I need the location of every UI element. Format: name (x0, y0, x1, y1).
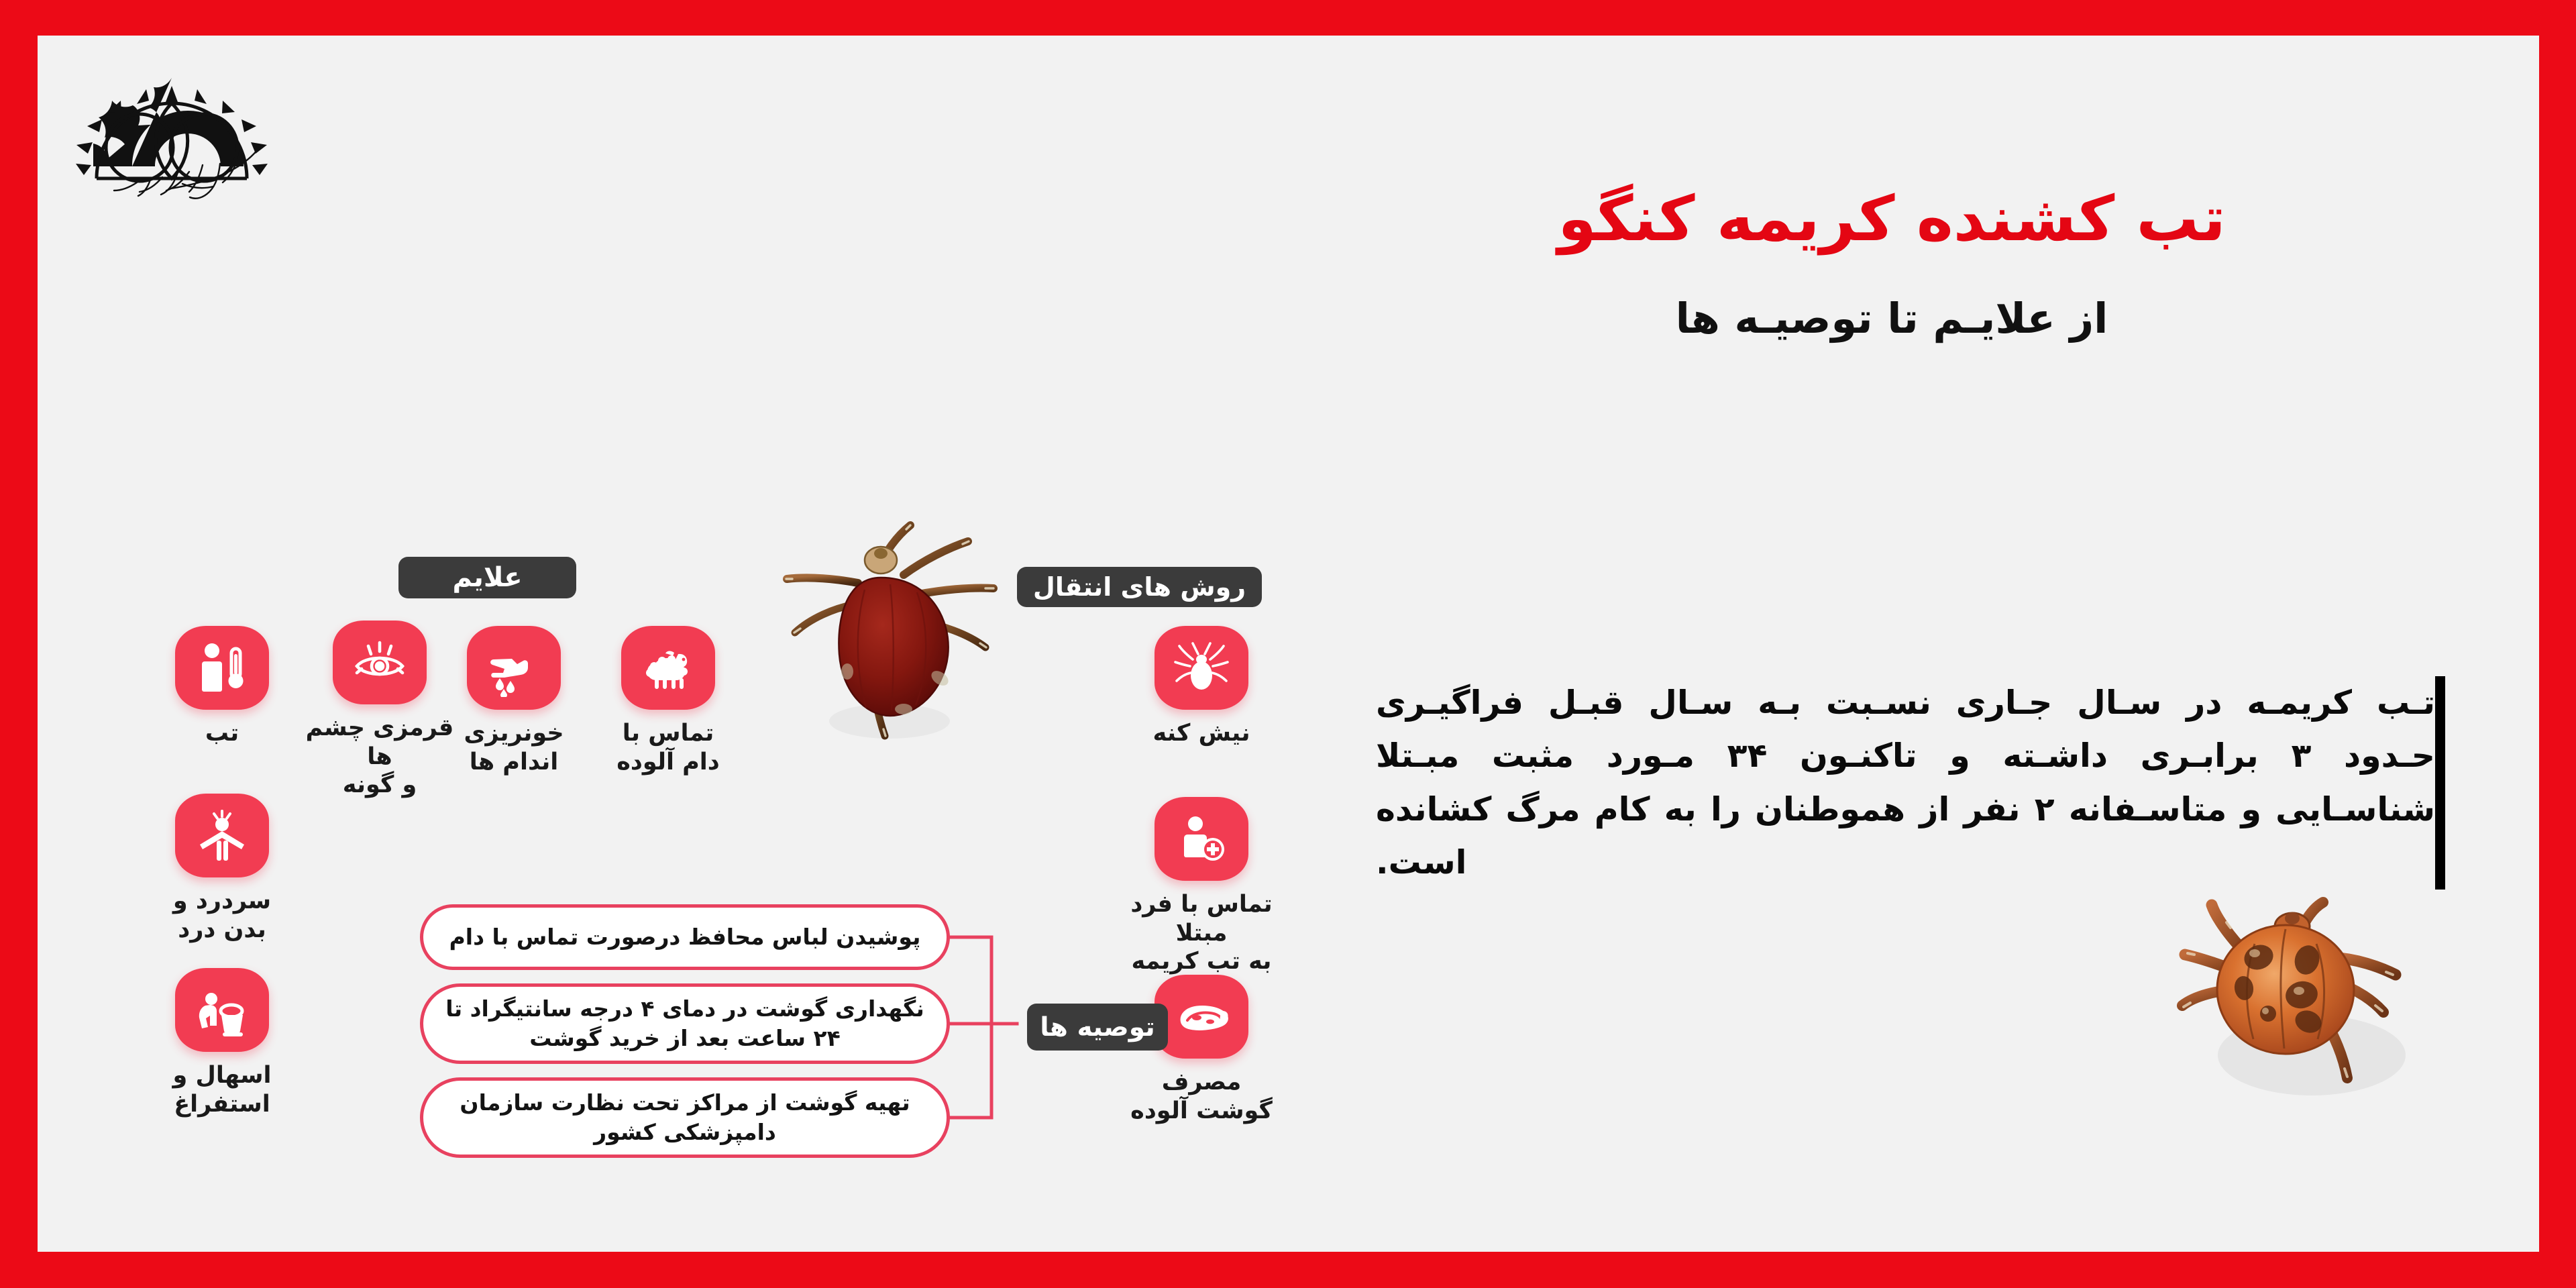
lede-block: تـب کریمـه در سـال جـاری نسـبت بـه سـال … (1358, 676, 2445, 890)
section-tag-symptoms: علایم (398, 557, 576, 598)
poster-canvas: تب کشنده کریمه کنگو از علایـم تا توصیـه … (38, 36, 2539, 1252)
page-title: تب کشنده کریمه کنگو (1325, 183, 2459, 255)
symptom-label: قرمزی چشم ها و گونه (303, 714, 457, 800)
hyalomma-tick-photo (2174, 888, 2489, 1176)
page-subtitle: از علایـم تا توصیـه ها (1325, 294, 2459, 343)
symptom-label: سردرد و بدن درد (173, 887, 271, 944)
person-thermometer-icon (175, 626, 269, 710)
transmission-label: خونریزی اندام ها (464, 719, 563, 776)
red-eye-icon (333, 621, 427, 704)
transmission-item-infected-person: تماس با فرد مبتلا به تب کریمه کنگو (1124, 797, 1279, 1005)
symptom-item-fever: تب (145, 626, 299, 748)
symptom-item-diarrhea-vomiting: اسهال و استفراغ (145, 968, 299, 1118)
transmission-item-bleeding: خونریزی اندام ها (437, 626, 591, 776)
tick-icon (1155, 626, 1248, 710)
east-tehran-health-center-logo (64, 59, 279, 223)
advice-text: نگهداری گوشت در دمای ۴ درجه سانتیگراد تا… (428, 994, 941, 1053)
person-toilet-icon (175, 968, 269, 1052)
symptom-item-red-eye: قرمزی چشم ها و گونه (303, 621, 457, 800)
advice-item-meat-storage: نگهداری گوشت در دمای ۴ درجه سانتیگراد تا… (420, 983, 950, 1064)
symptom-label: تب (205, 719, 239, 748)
bleeding-hand-icon (467, 626, 561, 710)
infographic: علایم روش های انتقال (131, 505, 1312, 1216)
advice-item-protective-clothing: پوشیدن لباس محافظ درصورت تماس با دام (420, 904, 950, 970)
infected-person-icon (1155, 797, 1248, 881)
transmission-label: تماس با دام آلوده (616, 719, 720, 776)
transmission-item-tick-bite: نیش کنه (1124, 626, 1279, 748)
advice-bracket-connector (950, 904, 1030, 1159)
section-tag-advice: توصیه ها (1027, 1004, 1168, 1051)
advice-text: تهیه گوشت از مراکز تحت نظارت سازمان دامپ… (442, 1088, 927, 1146)
transmission-label: نیش کنه (1153, 719, 1250, 748)
symptom-label: اسهال و استفراغ (173, 1061, 272, 1118)
raw-meat-icon (1155, 975, 1248, 1059)
sheep-icon (621, 626, 715, 710)
person-headache-icon (175, 794, 269, 877)
advice-group: پوشیدن لباس محافظ درصورت تماس با دام نگه… (420, 904, 1091, 1173)
engorged-tick-photo (772, 520, 1000, 755)
section-tag-transmission: روش های انتقال (1017, 567, 1262, 607)
advice-text: پوشیدن لباس محافظ درصورت تماس با دام (432, 922, 938, 952)
transmission-item-livestock: تماس با دام آلوده (591, 626, 745, 776)
lede-paragraph: تـب کریمـه در سـال جـاری نسـبت بـه سـال … (1358, 676, 2435, 890)
symptom-item-headache: سردرد و بدن درد (145, 794, 299, 944)
lede-accent-bar (2435, 676, 2445, 890)
transmission-label: مصرف گوشت آلوده (1130, 1068, 1273, 1125)
advice-item-meat-source: تهیه گوشت از مراکز تحت نظارت سازمان دامپ… (420, 1077, 950, 1158)
